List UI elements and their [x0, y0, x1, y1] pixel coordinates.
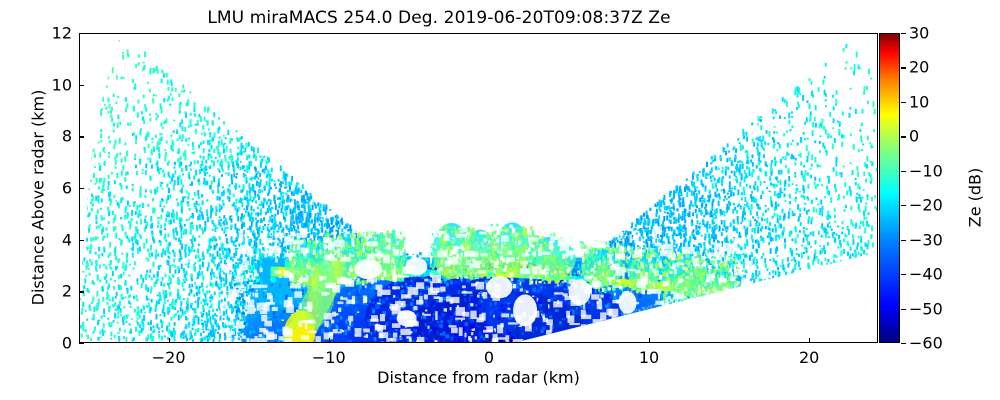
y-tick-label-5: 10: [38, 75, 72, 94]
colorbar-tick-label-3: −30: [909, 230, 943, 249]
y-tick-2: [79, 240, 84, 241]
colorbar-tick-7: [901, 102, 906, 103]
y-tick-label-6: 12: [38, 24, 72, 43]
y-tick-0: [79, 343, 84, 344]
x-tick-2: [489, 338, 490, 343]
colorbar-tick-label-9: 30: [909, 24, 929, 43]
radar-data-canvas: [80, 34, 877, 342]
colorbar-tick-6: [901, 136, 906, 137]
colorbar-tick-1: [901, 309, 906, 310]
colorbar-tick-9: [901, 33, 906, 34]
x-axis-label: Distance from radar (km): [79, 368, 878, 387]
y-tick-label-0: 0: [38, 334, 72, 353]
colorbar-tick-0: [901, 343, 906, 344]
colorbar-tick-label-5: −10: [909, 161, 943, 180]
x-tick-label-4: 20: [799, 348, 819, 367]
colorbar-tick-label-1: −50: [909, 299, 943, 318]
colorbar-tick-label-0: −60: [909, 334, 943, 353]
x-tick-3: [649, 338, 650, 343]
colorbar-tick-5: [901, 171, 906, 172]
x-tick-label-3: 10: [639, 348, 659, 367]
x-tick-label-0: −20: [152, 348, 186, 367]
y-tick-6: [79, 33, 84, 34]
y-tick-label-4: 8: [38, 127, 72, 146]
radar-reflectivity-field: [80, 34, 877, 342]
y-tick-3: [79, 188, 84, 189]
plot-axes: [79, 33, 878, 343]
page-title: LMU miraMACS 254.0 Deg. 2019-06-20T09:08…: [0, 8, 878, 28]
colorbar-label: Ze (dB): [966, 103, 985, 293]
colorbar-tick-label-8: 20: [909, 58, 929, 77]
y-tick-1: [79, 291, 84, 292]
x-tick-label-1: −10: [312, 348, 346, 367]
x-tick-4: [809, 338, 810, 343]
y-tick-5: [79, 85, 84, 86]
colorbar-tick-4: [901, 205, 906, 206]
colorbar-tick-label-6: 0: [909, 127, 919, 146]
colorbar-tick-8: [901, 67, 906, 68]
x-tick-1: [329, 338, 330, 343]
x-tick-0: [169, 338, 170, 343]
colorbar-tick-label-2: −40: [909, 265, 943, 284]
x-tick-label-2: 0: [484, 348, 494, 367]
colorbar-tick-2: [901, 274, 906, 275]
y-tick-label-3: 6: [38, 179, 72, 198]
colorbar-tick-label-4: −20: [909, 196, 943, 215]
colorbar-tick-label-7: 10: [909, 92, 929, 111]
colorbar-tick-3: [901, 240, 906, 241]
colorbar: [879, 33, 900, 343]
y-tick-label-2: 4: [38, 230, 72, 249]
radar-rhi-figure: LMU miraMACS 254.0 Deg. 2019-06-20T09:08…: [0, 0, 1000, 400]
y-tick-label-1: 2: [38, 282, 72, 301]
y-tick-4: [79, 136, 84, 137]
